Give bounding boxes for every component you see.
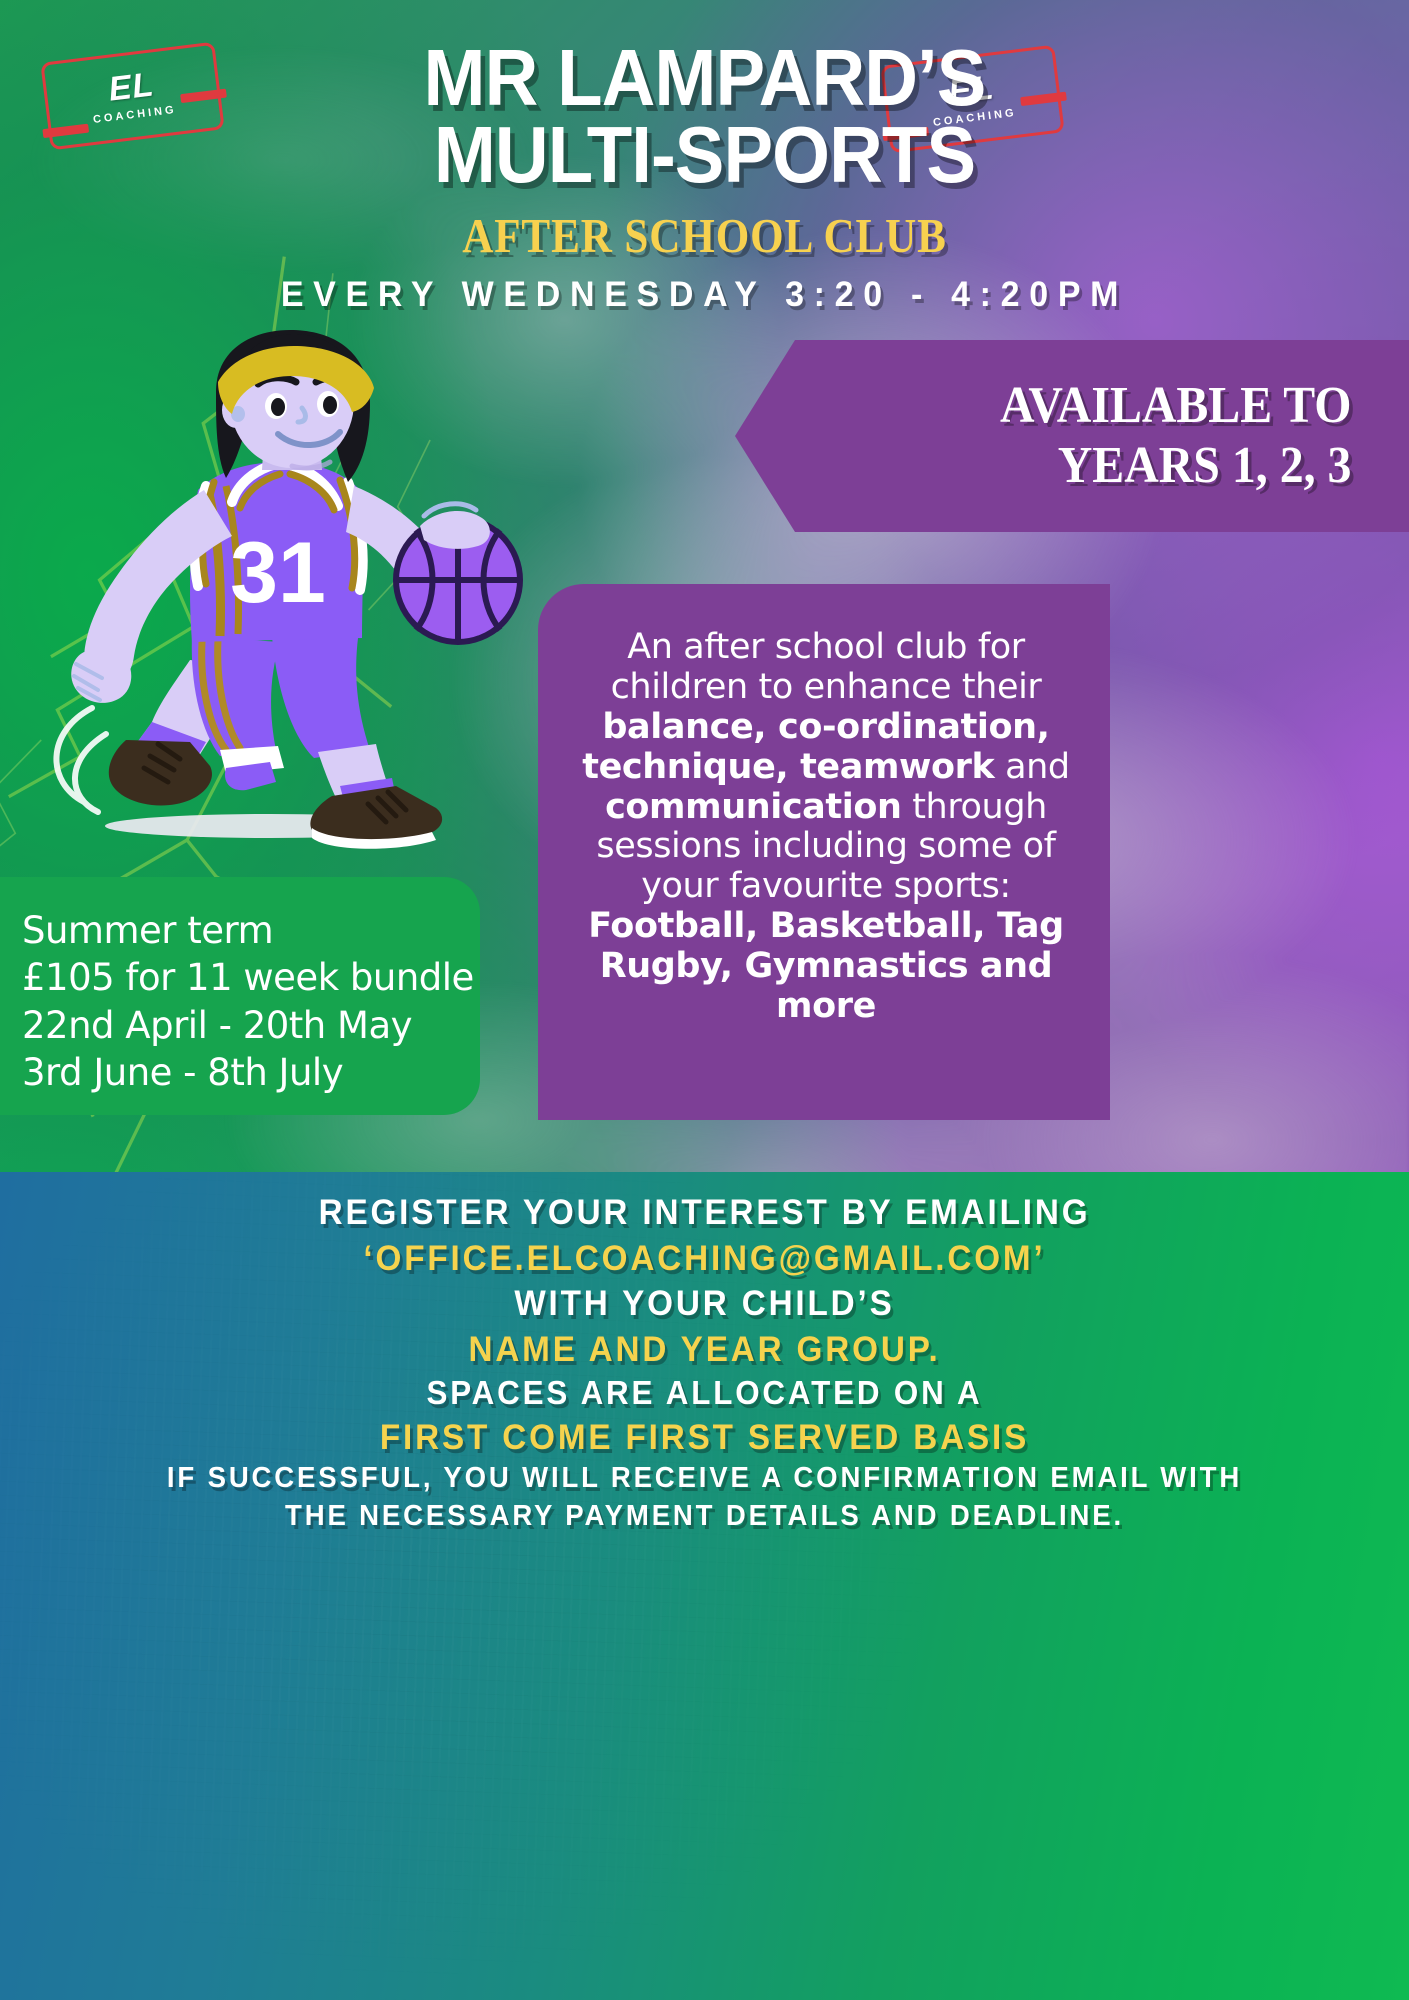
jersey-number: 31 bbox=[230, 525, 326, 621]
description-part-2: and bbox=[994, 747, 1069, 787]
description-text: An after school club for children to enh… bbox=[566, 628, 1086, 1027]
years-banner-line-1: AVAILABLE TO bbox=[805, 376, 1361, 436]
poster-root: EL COACHING EL COACHING MR LAMPARD’S MUL… bbox=[0, 0, 1409, 2000]
footer-line-4: NAME AND YEAR GROUP. bbox=[35, 1327, 1374, 1373]
page-subtitle: AFTER SCHOOL CLUB bbox=[85, 207, 1325, 264]
years-banner: AVAILABLE TO YEARS 1, 2, 3 bbox=[735, 340, 1409, 532]
page-title-line-2: MULTI-SPORTS bbox=[49, 117, 1359, 194]
footer-email[interactable]: ‘OFFICE.ELCOACHING@GMAIL.COM’ bbox=[35, 1236, 1374, 1282]
description-box: An after school club for children to enh… bbox=[538, 584, 1110, 1120]
footer-line-6: FIRST COME FIRST SERVED BASIS bbox=[35, 1415, 1374, 1461]
description-sports-list: Football, Basketball, Tag Rugby, Gymnast… bbox=[588, 906, 1064, 1026]
footer-line-7: IF SUCCESSFUL, YOU WILL RECEIVE A CONFIR… bbox=[35, 1460, 1374, 1498]
description-part-1: An after school club for children to enh… bbox=[611, 627, 1042, 707]
basketball-player-illustration: 31 bbox=[40, 330, 510, 850]
footer-line-8: THE NECESSARY PAYMENT DETAILS AND DEADLI… bbox=[35, 1498, 1374, 1536]
term-line-1: Summer term bbox=[22, 907, 460, 954]
page-title: MR LAMPARD’S MULTI-SPORTS bbox=[49, 40, 1359, 194]
years-banner-line-2: YEARS 1, 2, 3 bbox=[805, 436, 1361, 496]
registration-footer: REGISTER YOUR INTEREST BY EMAILING ‘OFFI… bbox=[0, 1190, 1409, 1536]
term-line-3: 22nd April - 20th May bbox=[22, 1002, 460, 1049]
page-title-line-1: MR LAMPARD’S bbox=[424, 33, 986, 122]
footer-line-1: REGISTER YOUR INTEREST BY EMAILING bbox=[35, 1190, 1374, 1236]
term-details-box: Summer term £105 for 11 week bundle 22nd… bbox=[0, 877, 480, 1115]
description-skills: balance, co-ordination, technique, teamw… bbox=[582, 707, 1049, 787]
term-line-2: £105 for 11 week bundle bbox=[22, 954, 460, 1001]
term-line-4: 3rd June - 8th July bbox=[22, 1049, 460, 1096]
footer-line-5: SPACES ARE ALLOCATED ON A bbox=[35, 1372, 1374, 1415]
footer-line-3: WITH YOUR CHILD’S bbox=[35, 1281, 1374, 1327]
schedule-text: EVERY WEDNESDAY 3:20 - 4:20PM bbox=[21, 275, 1388, 315]
description-skill-last: communication bbox=[605, 787, 901, 827]
